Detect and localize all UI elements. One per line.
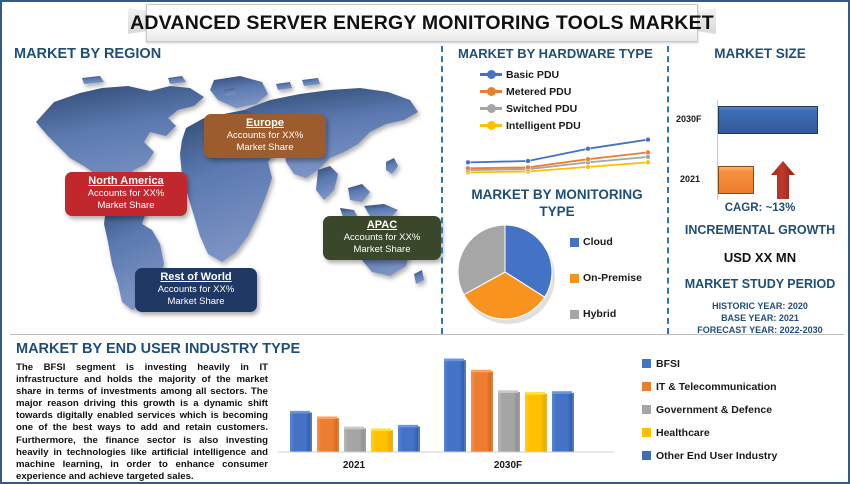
title-banner: ADVANCED SERVER ENERGY MONITORING TOOLS … [128, 4, 716, 40]
legend-item: Hybrid [570, 296, 642, 332]
legend-label: Hybrid [583, 308, 616, 320]
legend-label: Intelligent PDU [506, 120, 581, 132]
market-by-end-user-panel: MARKET BY END USER INDUSTRY TYPE The BFS… [4, 338, 848, 482]
historic-year: HISTORIC YEAR: 2020 [672, 300, 848, 312]
market-size-heading: MARKET SIZE [672, 46, 848, 61]
region-share-line-2: Market Share [329, 244, 435, 256]
title-plate: ADVANCED SERVER ENERGY MONITORING TOOLS … [146, 4, 698, 42]
growth-arrow-up-icon [770, 160, 796, 200]
market-study-period-heading: MARKET STUDY PERIOD [672, 277, 848, 291]
legend-item: On-Premise [570, 260, 642, 296]
svg-text:2021: 2021 [343, 460, 366, 471]
region-name: APAC [329, 219, 435, 232]
market-by-region-heading: MARKET BY REGION [14, 46, 161, 62]
legend-label: IT & Telecommunication [656, 381, 777, 393]
legend-swatch-icon [642, 359, 651, 368]
divider-left [441, 46, 443, 334]
divider-right [667, 46, 669, 334]
legend-item: Other End User Industry [642, 444, 777, 467]
legend-marker-line-icon [480, 124, 502, 127]
legend-item: Intelligent PDU [480, 117, 581, 134]
legend-marker-line-icon [480, 73, 502, 76]
legend-item: Switched PDU [480, 100, 581, 117]
end-user-body-text: The BFSI segment is investing heavily in… [16, 362, 268, 483]
incremental-growth-heading: INCREMENTAL GROWTH [672, 223, 848, 237]
market-by-region-panel: MARKET BY REGION [4, 42, 438, 332]
end-user-legend: BFSI IT & Telecommunication Government &… [642, 352, 777, 467]
market-study-period-years: HISTORIC YEAR: 2020 BASE YEAR: 2021 FORE… [672, 300, 848, 336]
market-size-bar-2030f [718, 106, 818, 134]
region-name: Europe [210, 117, 320, 130]
infographic-root: ADVANCED SERVER ENERGY MONITORING TOOLS … [0, 0, 850, 484]
cagr-value: CAGR: ~13% [672, 202, 848, 214]
legend-swatch-icon [642, 428, 651, 437]
region-share-line-1: Accounts for XX% [141, 284, 251, 296]
market-by-end-user-heading: MARKET BY END USER INDUSTRY TYPE [16, 341, 300, 357]
legend-item: Cloud [570, 224, 642, 260]
legend-label: BFSI [656, 358, 680, 370]
legend-label: On-Premise [583, 272, 642, 284]
legend-swatch-icon [570, 274, 579, 283]
legend-label: Metered PDU [506, 86, 571, 98]
legend-label: Switched PDU [506, 103, 577, 115]
legend-item: Metered PDU [480, 83, 581, 100]
legend-item: IT & Telecommunication [642, 375, 777, 398]
market-by-monitoring-type-panel: MARKET BY MONITORING TYPE Cloud On-Premi… [446, 186, 666, 334]
legend-item: Basic PDU [480, 66, 581, 83]
region-share-line-1: Accounts for XX% [71, 188, 181, 200]
legend-label: Basic PDU [506, 69, 559, 81]
market-by-monitoring-type-heading: MARKET BY MONITORING TYPE [454, 186, 660, 220]
base-year: BASE YEAR: 2021 [672, 312, 848, 324]
world-map: Europe Accounts for XX% Market Share Nor… [18, 66, 428, 324]
region-name: Rest of World [141, 271, 251, 284]
market-size-panel: MARKET SIZE 2030F 2021 CAGR: ~13% INCREM… [672, 42, 848, 334]
region-label-rest-of-world: Rest of World Accounts for XX% Market Sh… [135, 268, 257, 312]
market-size-bar-label-2021: 2021 [680, 174, 700, 184]
region-share-line-2: Market Share [210, 142, 320, 154]
legend-marker-line-icon [480, 107, 502, 110]
region-label-apac: APAC Accounts for XX% Market Share [323, 216, 441, 260]
region-label-north-america: North America Accounts for XX% Market Sh… [65, 172, 187, 216]
legend-item: Government & Defence [642, 398, 777, 421]
region-name: North America [71, 175, 181, 188]
end-user-bar-chart: 20212030F [276, 348, 616, 474]
legend-label: Other End User Industry [656, 450, 777, 462]
legend-item: BFSI [642, 352, 777, 375]
legend-swatch-icon [642, 451, 651, 460]
monitoring-legend: Cloud On-Premise Hybrid [570, 224, 642, 332]
legend-item: Healthcare [642, 421, 777, 444]
region-label-europe: Europe Accounts for XX% Market Share [204, 114, 326, 158]
monitoring-pie-chart [452, 222, 562, 326]
legend-label: Government & Defence [656, 404, 772, 416]
region-share-line-1: Accounts for XX% [329, 232, 435, 244]
market-size-bar-label-2030f: 2030F [676, 114, 702, 124]
legend-swatch-icon [570, 310, 579, 319]
legend-label: Cloud [583, 236, 613, 248]
legend-label: Healthcare [656, 427, 710, 439]
hardware-line-chart [454, 134, 662, 180]
market-by-hardware-type-panel: MARKET BY HARDWARE TYPE Basic PDU Metere… [446, 42, 666, 182]
market-by-hardware-type-heading: MARKET BY HARDWARE TYPE [458, 46, 653, 61]
legend-swatch-icon [570, 238, 579, 247]
hardware-legend: Basic PDU Metered PDU Switched PDU Intel… [480, 66, 581, 134]
forecast-year: FORECAST YEAR: 2022-2030 [672, 324, 848, 336]
market-size-bar-2021 [718, 166, 754, 194]
legend-swatch-icon [642, 382, 651, 391]
page-title: ADVANCED SERVER ENERGY MONITORING TOOLS … [130, 12, 714, 35]
incremental-growth-value: USD XX MN [672, 250, 848, 265]
region-share-line-2: Market Share [71, 200, 181, 212]
svg-text:2030F: 2030F [494, 460, 522, 471]
legend-swatch-icon [642, 405, 651, 414]
region-share-line-2: Market Share [141, 296, 251, 308]
legend-marker-line-icon [480, 90, 502, 93]
region-share-line-1: Accounts for XX% [210, 130, 320, 142]
